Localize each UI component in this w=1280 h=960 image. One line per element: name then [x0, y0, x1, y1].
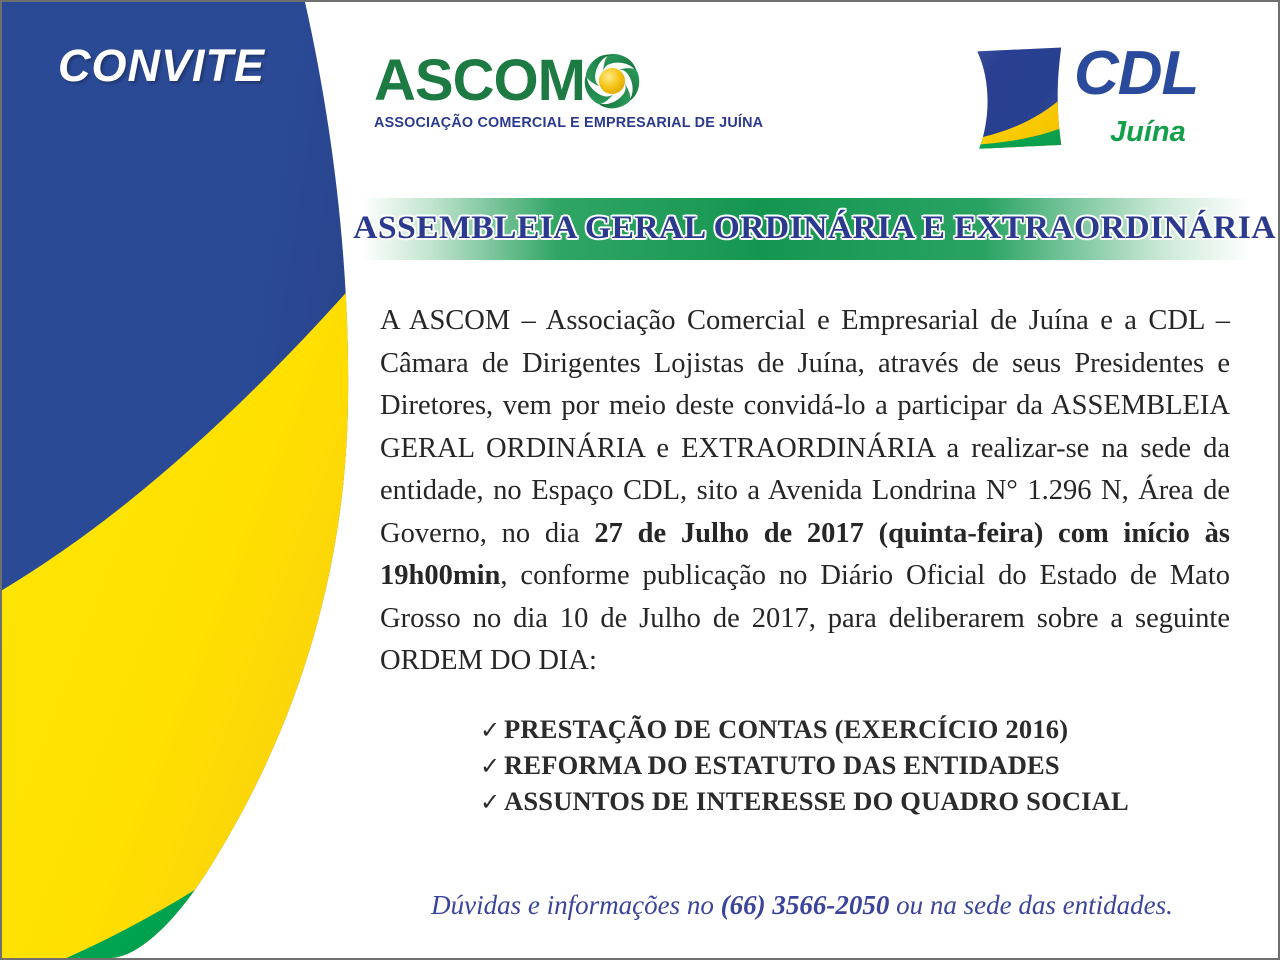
- agenda-list: ✓ PRESTAÇÃO DE CONTAS (EXERCÍCIO 2016) ✓…: [480, 712, 1180, 820]
- ascom-logo-row: ASCOM: [374, 50, 714, 112]
- wave-flag-icon: [962, 42, 1067, 165]
- shutter-flower-icon: [581, 52, 643, 110]
- agenda-item-label: REFORMA DO ESTATUTO DAS ENTIDADES: [504, 748, 1060, 782]
- agenda-item-label: PRESTAÇÃO DE CONTAS (EXERCÍCIO 2016): [504, 712, 1068, 746]
- body-segment-intro: A ASCOM – Associação Comercial e Empresa…: [380, 305, 1230, 549]
- ascom-logo: ASCOM: [374, 50, 714, 131]
- footer-phone: (66) 3566-2050: [721, 890, 890, 920]
- body-segment-closing: , conforme publicação no Diário Oficial …: [380, 560, 1230, 676]
- footer-prefix: Dúvidas e informações no: [431, 890, 720, 920]
- ascom-tagline: ASSOCIAÇÃO COMERCIAL E EMPRESARIAL DE JU…: [374, 115, 711, 131]
- list-item: ✓ ASSUNTOS DE INTERESSE DO QUADRO SOCIAL: [480, 784, 1180, 820]
- contact-footer: Dúvidas e informações no (66) 3566-2050 …: [362, 890, 1242, 921]
- list-item: ✓ PRESTAÇÃO DE CONTAS (EXERCÍCIO 2016): [480, 712, 1180, 748]
- check-icon: ✓: [480, 750, 504, 784]
- brazil-flag-ribbon-graphic: [2, 2, 362, 958]
- list-item: ✓ REFORMA DO ESTATUTO DAS ENTIDADES: [480, 748, 1180, 784]
- cdl-logo: CDL Juína: [962, 38, 1232, 168]
- ascom-wordmark: ASCOM: [374, 52, 585, 110]
- check-icon: ✓: [480, 786, 504, 820]
- page-title: ASSEMBLEIA GERAL ORDINÁRIA E EXTRAORDINÁ…: [353, 200, 1259, 256]
- agenda-item-label: ASSUNTOS DE INTERESSE DO QUADRO SOCIAL: [504, 784, 1129, 818]
- check-icon: ✓: [480, 714, 504, 748]
- cdl-city-label: Juína: [1110, 116, 1186, 149]
- cdl-wordmark: CDL: [1074, 42, 1198, 106]
- convite-badge: CONVITE: [58, 40, 298, 92]
- invitation-poster: CONVITE ASCOM: [0, 0, 1280, 960]
- footer-suffix: ou na sede das entidades.: [889, 890, 1172, 920]
- invitation-body: A ASCOM – Associação Comercial e Empresa…: [380, 300, 1230, 683]
